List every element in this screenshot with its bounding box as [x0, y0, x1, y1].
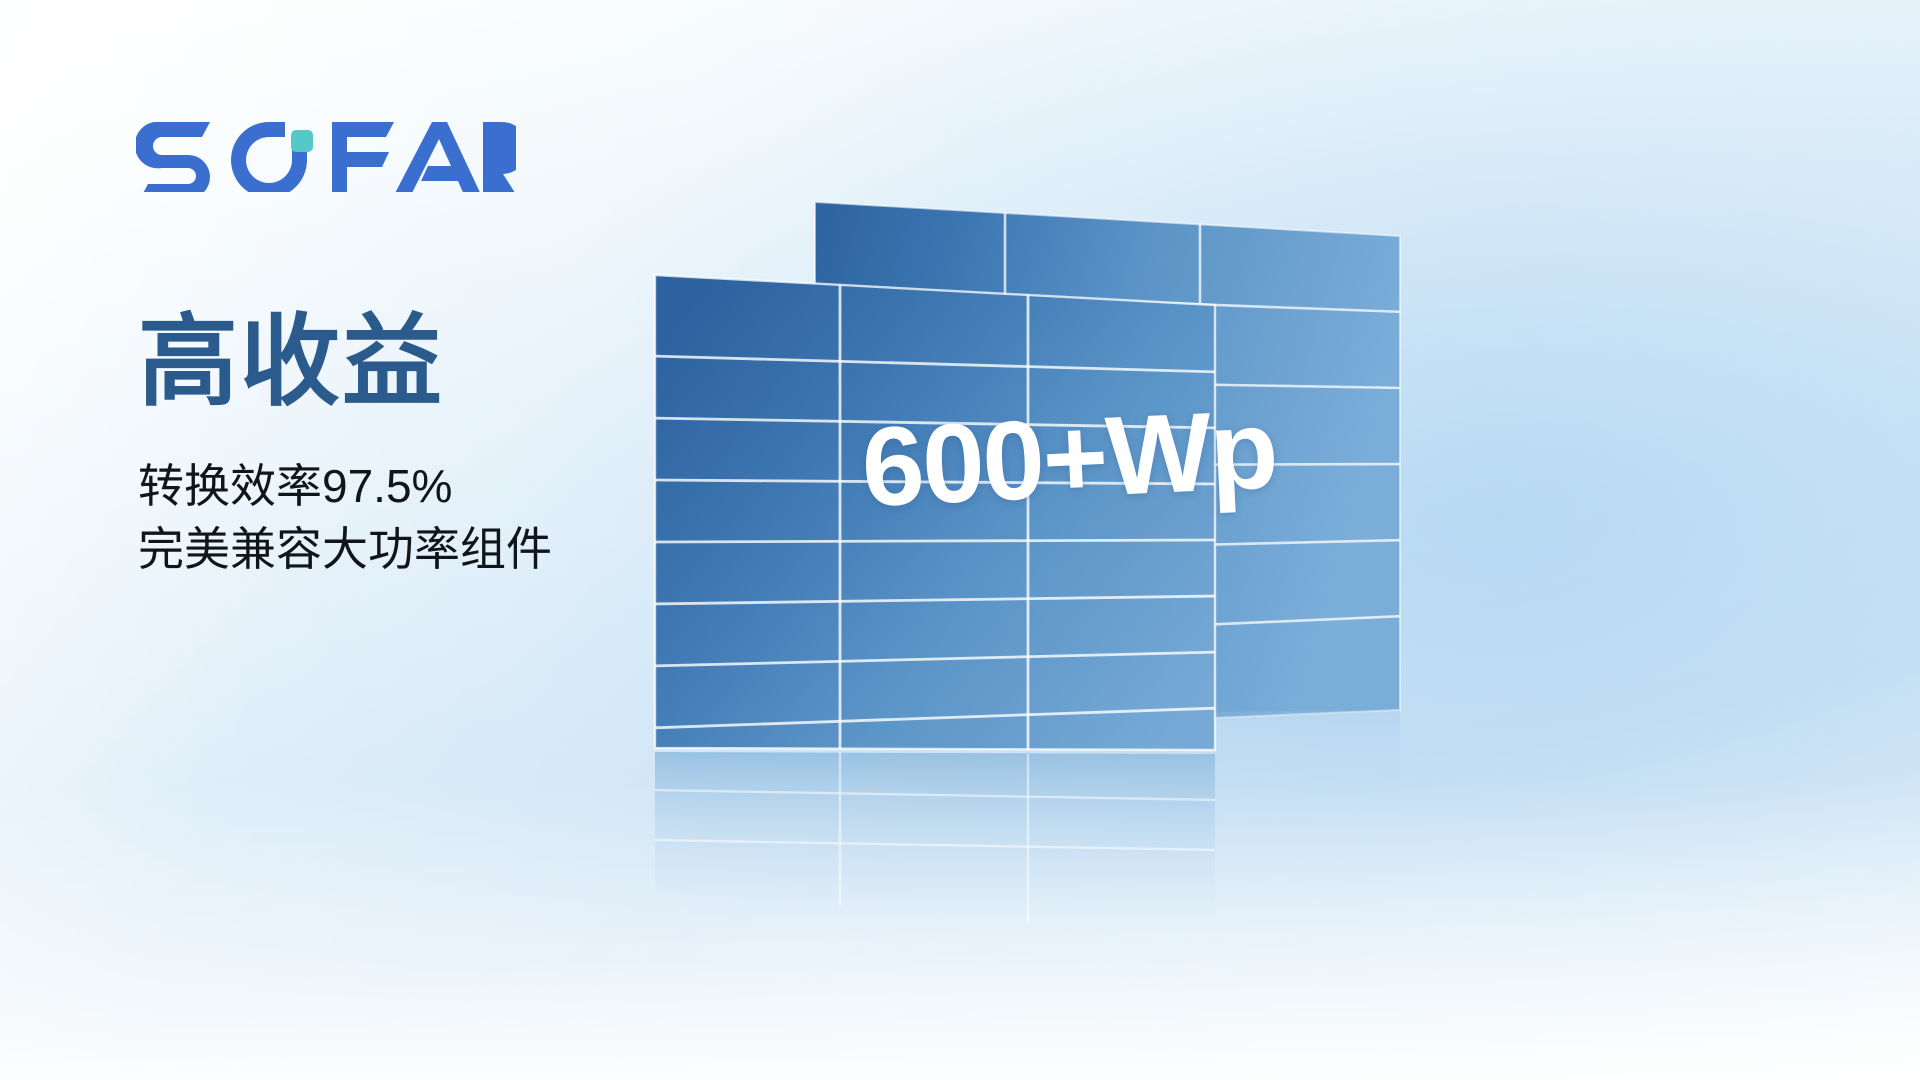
sofar-wordmark-logo [136, 122, 516, 192]
solar-panel-illustration [600, 150, 1600, 970]
subtitle-block: 转换效率97.5% 完美兼容大功率组件 [138, 455, 552, 582]
power-rating-label: 600+Wp [859, 393, 1278, 524]
sofar-logo[interactable] [136, 108, 516, 192]
solar-panel-front-reflection [650, 752, 1220, 930]
subtitle-line-1: 转换效率97.5% [138, 455, 552, 518]
subtitle-line-2: 完美兼容大功率组件 [138, 518, 552, 581]
page-title: 高收益 [138, 310, 444, 415]
hero-banner: 高收益 转换效率97.5% 完美兼容大功率组件 [0, 0, 1920, 1080]
solar-panel-back-reflection [1215, 710, 1400, 850]
logo-accent-square [291, 130, 313, 152]
